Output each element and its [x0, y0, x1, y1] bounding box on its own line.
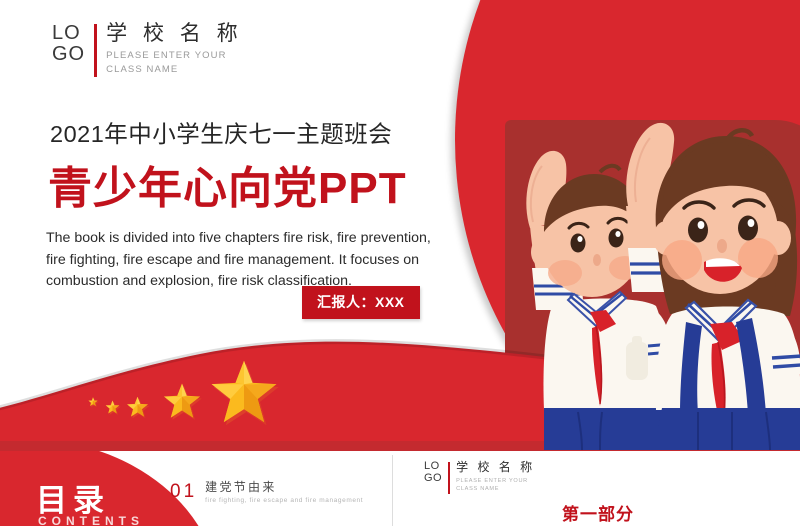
section-logo-mark: LO GO [424, 461, 442, 484]
logo-divider-bar [94, 24, 97, 77]
toc-item-title: 建党节由来 [205, 481, 363, 494]
slide-deck-preview: LO GO 学 校 名 称 PLEASE ENTER YOUR CLASS NA… [0, 0, 800, 526]
logo-mark-line-1: LO [52, 23, 85, 44]
section-logo[interactable]: LO GO 学 校 名 称 PLEASE ENTER YOUR CLASS NA… [424, 461, 535, 494]
toc-item-number: 01 [170, 481, 197, 501]
section-logo-school-name: 学 校 名 称 [456, 461, 535, 475]
logo-school-name: 学 校 名 称 [106, 22, 243, 46]
logo-en-line-1: PLEASE ENTER YOUR [106, 49, 243, 63]
cover-body-text: The book is divided into five chapters f… [46, 228, 446, 293]
section-logo-en-line-2: CLASS NAME [456, 485, 535, 493]
section-logo-mark-line-1: LO [424, 461, 442, 473]
section-logo-divider-bar [448, 462, 450, 494]
slide-1-cover[interactable]: LO GO 学 校 名 称 PLEASE ENTER YOUR CLASS NA… [0, 0, 800, 450]
toc-item-subtitle: fire fighting, fire escape and fire mana… [205, 497, 363, 504]
cover-subtitle: 2021年中小学生庆七一主题班会 [50, 115, 392, 149]
cover-main-title: 青少年心向党PPT [48, 152, 407, 216]
five-gold-stars-icon [80, 352, 310, 427]
slide-divider-line [392, 455, 393, 526]
slide-3-section-divider[interactable]: LO GO 学 校 名 称 PLEASE ENTER YOUR CLASS NA… [396, 451, 800, 526]
logo-mark-line-2: GO [52, 44, 85, 65]
toc-item-01[interactable]: 01 建党节由来 fire fighting, fire escape and … [170, 481, 363, 504]
logo-mark: LO GO [52, 22, 85, 65]
section-logo-en-line-1: PLEASE ENTER YOUR [456, 477, 535, 485]
two-saluting-students-illustration [470, 110, 800, 450]
section-logo-mark-line-2: GO [424, 473, 442, 485]
catalog-subtitle: CONTENTS [38, 514, 144, 526]
header-logo[interactable]: LO GO 学 校 名 称 PLEASE ENTER YOUR CLASS NA… [52, 22, 243, 77]
section-part-label: 第一部分 [396, 500, 800, 525]
presenter-badge: 汇报人：XXX [302, 286, 420, 319]
logo-en-line-2: CLASS NAME [106, 63, 243, 77]
